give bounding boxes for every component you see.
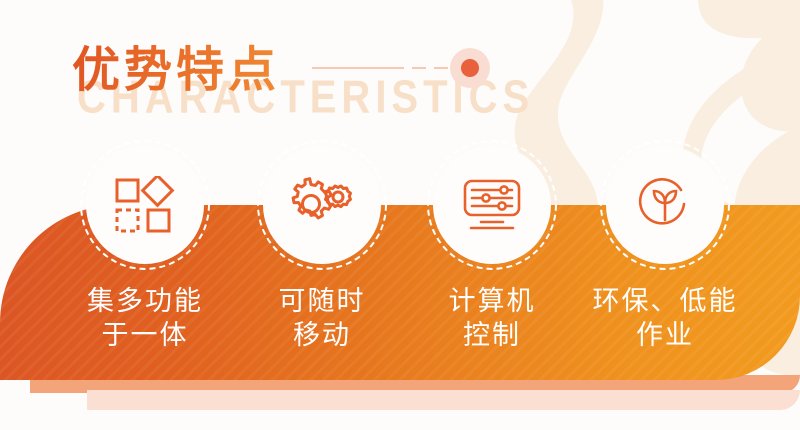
feature-label-3-line1: 计算机: [449, 286, 536, 317]
feature-label-2-line1: 可随时: [279, 286, 366, 317]
feature-icon-4[interactable]: [606, 146, 724, 264]
gears-icon: [289, 176, 355, 234]
feature-label-2: 可随时 移动: [227, 285, 417, 353]
feature-icon-2[interactable]: [263, 146, 381, 264]
feature-label-2-line2: 移动: [227, 319, 417, 353]
feature-label-3-line2: 控制: [397, 319, 587, 353]
poster-canvas: CHARACTERISTICS 优势特点: [0, 0, 800, 430]
control-panel-sliders-icon: [459, 176, 525, 234]
title-dot-core: [461, 59, 479, 77]
feature-label-4-line2: 作业: [570, 319, 760, 353]
feature-label-1-line2: 于一体: [50, 319, 240, 353]
sprout-eco-icon: [635, 176, 695, 234]
feature-icon-3[interactable]: [433, 146, 551, 264]
feature-label-4: 环保、低能 作业: [570, 285, 760, 353]
feature-label-1-line1: 集多功能: [87, 286, 203, 317]
feature-label-3: 计算机 控制: [397, 285, 587, 353]
feature-label-4-line1: 环保、低能: [593, 286, 738, 317]
shapes-grid-icon: [114, 176, 176, 234]
band-shadow-light: [87, 390, 800, 410]
feature-icon-1[interactable]: [86, 146, 204, 264]
page-title: 优势特点: [72, 30, 280, 100]
title-rule-solid: [312, 67, 404, 69]
feature-label-1: 集多功能 于一体: [50, 285, 240, 353]
